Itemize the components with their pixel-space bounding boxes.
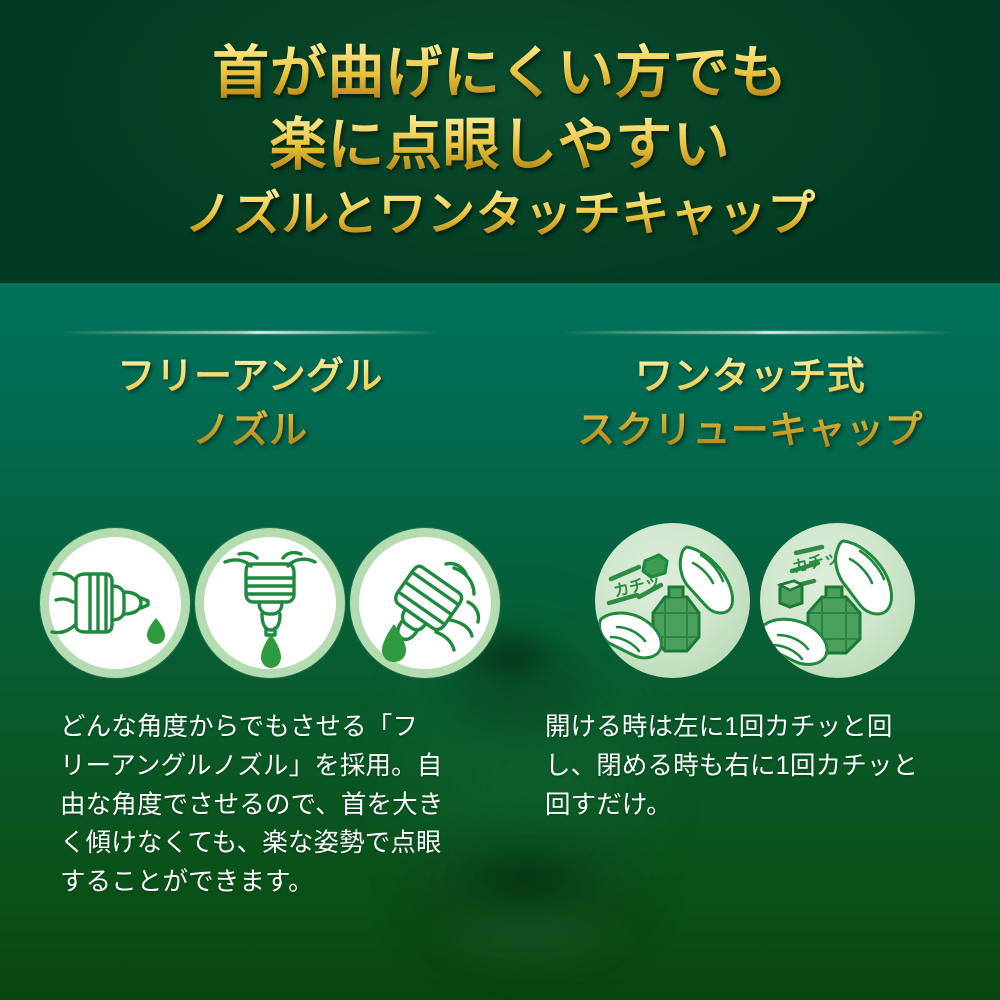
illustration-hands-twisting-cap-open: カチッ <box>595 523 750 678</box>
drop-icon <box>382 624 406 662</box>
column-divider-left <box>58 331 442 334</box>
illustrations-right: カチッ <box>595 523 925 683</box>
column-heading-left: フリーアングル ノズル <box>0 349 500 457</box>
drop-icon <box>261 634 281 668</box>
column-one-touch-screw-cap: ワンタッチ式 スクリューキャップ <box>500 283 1000 1000</box>
body-panel: フリーアングル ノズル <box>0 283 1000 1000</box>
headline-line-2: 楽に点眼しやすい <box>270 113 731 177</box>
column-heading-right-line-1: ワンタッチ式 <box>635 353 865 398</box>
body-line: リーアングルノズル」を採用。自 <box>60 747 480 786</box>
hands-twist-cap-open-icon: カチッ <box>595 523 750 678</box>
column-body-left: どんな角度からでもさせる「フ リーアングルノズル」を採用。自 由な角度でさせるの… <box>60 708 480 902</box>
feature-columns: フリーアングル ノズル <box>0 283 1000 1000</box>
body-line: 回すだけ。 <box>545 786 975 825</box>
column-heading-right-line-2: スクリューキャップ <box>500 403 1000 457</box>
header-band: 首が曲げにくい方でも 楽に点眼しやすい ノズルとワンタッチキャップ <box>0 0 1000 283</box>
drop-icon <box>147 618 165 644</box>
column-heading-left-line-1: フリーアングル <box>117 353 383 398</box>
body-line: 由な角度でさせるので、首を大き <box>60 786 480 825</box>
bottle-vertical-down-icon <box>195 528 345 678</box>
column-body-right: 開ける時は左に1回カチッと回 し、閉める時も右に1回カチッと 回すだけ。 <box>545 708 975 824</box>
illustrations-left <box>40 528 510 680</box>
ad-banner: 首が曲げにくい方でも 楽に点眼しやすい ノズルとワンタッチキャップ フリーアング… <box>0 0 1000 1000</box>
illustration-bottle-horizontal-right-with-drop <box>40 528 190 678</box>
body-line: どんな角度からでもさせる「フ <box>60 708 480 747</box>
body-line: く傾けなくても、楽な姿勢で点眼 <box>60 824 480 863</box>
illustration-bottle-pointing-down-with-drop <box>195 528 345 678</box>
bottle-horizontal-right-icon <box>40 528 190 678</box>
body-line: することができます。 <box>60 863 480 902</box>
headline-line-1: 首が曲げにくい方でも <box>212 41 788 105</box>
headline-line-3: ノズルとワンタッチキャップ <box>184 188 816 242</box>
body-line: し、閉める時も右に1回カチッと <box>545 747 975 786</box>
hand-tilted-bottle-icon <box>350 528 500 678</box>
body-line: 開ける時は左に1回カチッと回 <box>545 708 975 747</box>
column-heading-right: ワンタッチ式 スクリューキャップ <box>500 349 1000 457</box>
headline-block: 首が曲げにくい方でも 楽に点眼しやすい ノズルとワンタッチキャップ <box>0 0 1000 283</box>
column-heading-left-line-2: ノズル <box>0 403 500 457</box>
hands-cap-removed-icon: カチッ <box>760 523 915 678</box>
column-divider-right <box>560 331 956 334</box>
column-free-angle-nozzle: フリーアングル ノズル <box>0 283 500 1000</box>
illustration-hand-tilting-bottle-with-drop <box>350 528 500 678</box>
illustration-hands-holding-bottle-cap-removed: カチッ <box>760 523 915 678</box>
